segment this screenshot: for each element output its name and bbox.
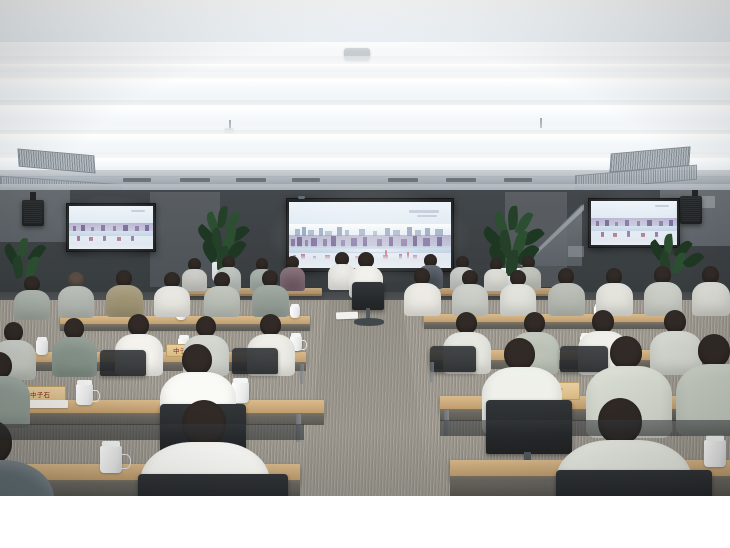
desk-leg — [300, 364, 304, 384]
office-chair — [560, 346, 608, 372]
conference-room-photo: 中子石 — [0, 0, 730, 496]
screen-camera-icon — [298, 196, 305, 199]
tea-cup — [704, 440, 726, 467]
ceiling-light-slot — [446, 178, 476, 182]
office-chair — [100, 350, 146, 376]
screenshot-root: 中子石 — [0, 0, 730, 548]
ceiling-light-strip — [0, 0, 730, 42]
tea-cup — [76, 384, 93, 405]
nameplate-text: 中子石 — [30, 391, 50, 400]
ceiling-light-strip — [0, 64, 730, 72]
caption-text — [0, 496, 730, 516]
ceiling-band — [0, 72, 730, 78]
ceiling-hanger — [540, 118, 542, 128]
ceiling-light-slot — [236, 178, 266, 182]
tea-cup — [100, 446, 122, 473]
office-chair — [232, 348, 278, 374]
office-chair — [138, 474, 288, 496]
wall-sign — [568, 246, 584, 257]
ceiling-light-slot — [123, 178, 151, 182]
wall-speaker-right — [680, 196, 702, 224]
ceiling-light-slot — [388, 178, 418, 182]
office-chair — [352, 282, 384, 310]
tea-cup — [36, 340, 48, 355]
desk-modesty-panel — [0, 424, 304, 440]
left-screen-image — [69, 206, 153, 249]
ceiling-light-strip — [0, 106, 730, 132]
chair-base — [354, 318, 384, 326]
ceiling-light-strip — [0, 134, 730, 154]
wall-speaker-left — [22, 200, 44, 226]
desk-paper — [336, 312, 358, 320]
office-chair — [556, 470, 712, 496]
ceiling-light-slot — [292, 178, 320, 182]
ceiling-edge — [0, 100, 730, 105]
office-chair — [430, 346, 476, 372]
left-side-display[interactable] — [66, 203, 156, 252]
desk-modesty-panel — [440, 420, 730, 436]
ceiling-light-strip — [0, 80, 730, 102]
caption-area — [0, 496, 730, 548]
ceiling-light-slot — [504, 178, 532, 182]
desk-leg — [430, 362, 434, 382]
ceiling-light-slot — [180, 178, 210, 182]
tea-cup — [290, 306, 300, 318]
